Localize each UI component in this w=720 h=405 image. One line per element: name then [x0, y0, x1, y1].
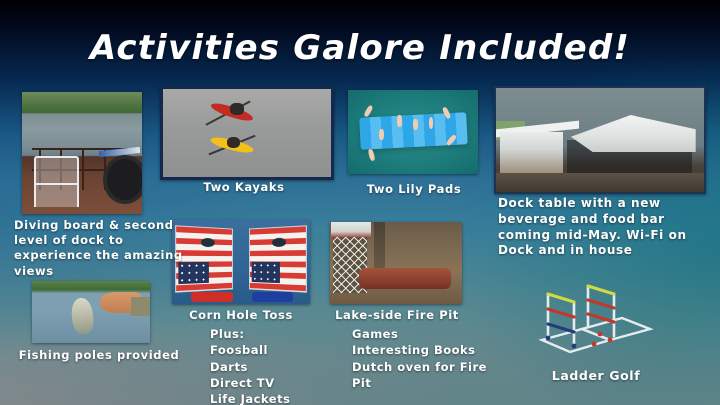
fire-pit-list-item: Interesting Books	[352, 342, 487, 358]
plus-list-heading: Plus:	[210, 326, 290, 342]
dock-chair	[34, 156, 79, 207]
fishing-photo	[32, 281, 150, 343]
red-bean-bags	[191, 292, 232, 302]
tree-trunk	[374, 222, 386, 273]
brick-fire-pit	[359, 268, 451, 289]
page-title: Activities Galore Included!	[0, 28, 720, 68]
caught-fish	[70, 297, 95, 335]
fire-pit-photo	[330, 222, 462, 304]
dock-tire	[103, 155, 142, 204]
fire-pit-scene	[330, 222, 462, 304]
diving-board-caption: Diving board & second level of dock to e…	[14, 218, 204, 279]
plus-list-item: Foosball	[210, 342, 290, 358]
ladder-golf-svg	[524, 282, 664, 366]
corn-hole-opening	[272, 237, 287, 246]
fire-pit-list: Games Interesting Books Dutch oven for F…	[352, 326, 487, 391]
fire-pit-list-item: Games	[352, 326, 487, 342]
boathouse-scene	[496, 88, 704, 192]
white-canopy	[571, 115, 696, 152]
dock-post	[82, 148, 84, 190]
fire-pit-list-item: Pit	[352, 375, 487, 391]
fire-pit-caption: Lake-side Fire Pit	[326, 308, 468, 323]
plus-list: Plus: Foosball Darts Direct TV Life Jack…	[210, 326, 290, 405]
flag-canton	[252, 261, 280, 282]
lily-pads-photo	[348, 90, 478, 174]
swimmer	[364, 105, 374, 117]
dock-table-photo	[494, 86, 706, 194]
swimmer	[429, 117, 434, 129]
lily-pads-caption: Two Lily Pads	[344, 182, 484, 197]
kayaker	[230, 103, 243, 114]
blue-bean-bags	[252, 292, 293, 302]
dock-table-caption: Dock table with a new beverage and food …	[498, 196, 716, 259]
sleeve	[131, 297, 150, 316]
fire-pit-list-item: Dutch oven for Fire	[352, 359, 487, 375]
lily-pad-scene	[348, 90, 478, 174]
ladder-golf-graphic	[524, 282, 664, 366]
kayaker	[227, 137, 240, 148]
plus-list-item: Life Jackets	[210, 391, 290, 405]
diving-board-photo	[22, 92, 142, 214]
swimmer	[397, 115, 402, 127]
ladder-golf-caption: Ladder Golf	[516, 368, 676, 385]
swimmer	[413, 119, 418, 131]
dock-shed	[500, 132, 562, 176]
kayaks-photo	[160, 86, 334, 180]
fishing-scene	[32, 281, 150, 343]
plus-list-item: Darts	[210, 359, 290, 375]
kayaks-caption: Two Kayaks	[160, 180, 328, 195]
floating-mat	[359, 112, 467, 149]
kayak-scene	[163, 89, 331, 177]
slide-canvas: Activities Galore Included! Diving board…	[0, 0, 720, 405]
corn-hole-board-right	[249, 225, 306, 293]
dock-deck	[496, 173, 704, 192]
dock-scene	[22, 92, 142, 214]
swimmer	[379, 129, 384, 141]
corn-hole-caption: Corn Hole Toss	[166, 308, 316, 323]
plus-list-item: Direct TV	[210, 375, 290, 391]
fishing-caption: Fishing poles provided	[14, 348, 184, 363]
swimmer	[367, 148, 374, 161]
